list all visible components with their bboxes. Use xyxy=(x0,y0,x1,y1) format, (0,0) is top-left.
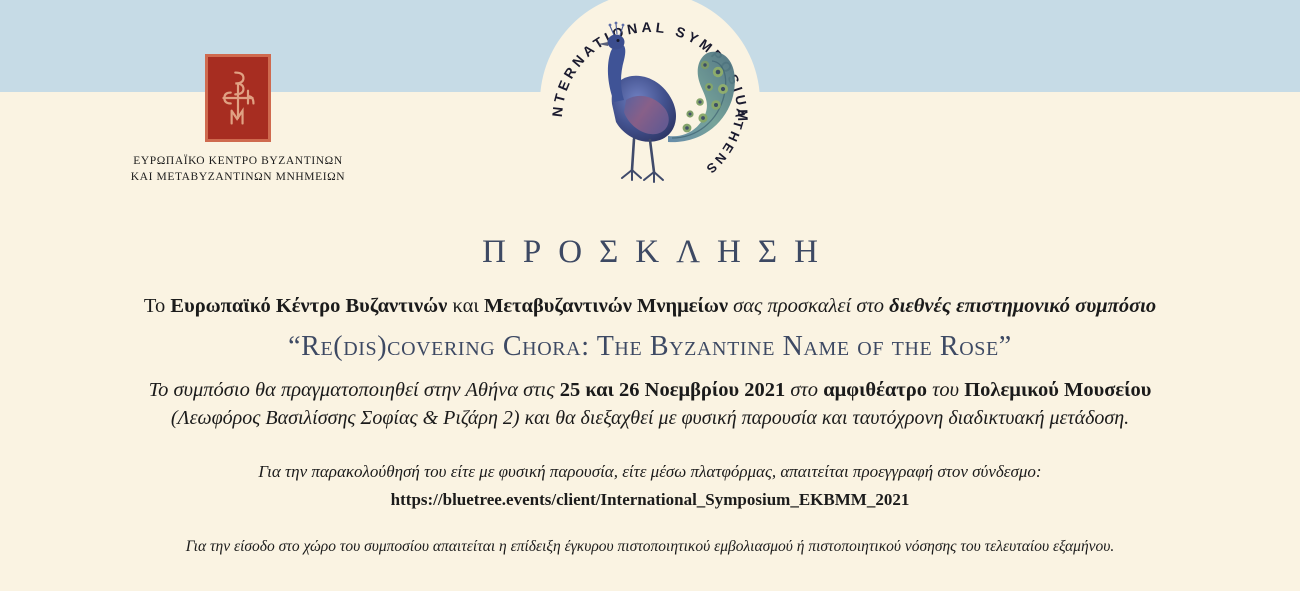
page-title: ΠΡΟΣΚΛΗΣΗ xyxy=(0,234,1300,271)
invitation-connector-2: σας προσκαλεί στο xyxy=(728,295,889,317)
symposium-dates: 25 και 26 Νοεμβρίου 2021 xyxy=(560,379,786,401)
institution-name-line-2: ΚΑΙ ΜΕΤΑΒΥΖΑΝΤΙΝΩΝ ΜΝΗΜΕΙΩΝ xyxy=(88,170,388,186)
event-type-label: διεθνές επιστημονικό συμπόσιο xyxy=(889,295,1156,317)
venue-connector-2: του xyxy=(927,379,964,401)
registration-url[interactable]: https://bluetree.events/client/Internati… xyxy=(0,487,1300,513)
invitation-card: ΕΥΡΩΠΑΪΚΟ ΚΕΝΤΡΟ ΒΥΖΑΝΤΙΝΩΝ ΚΑΙ ΜΕΤΑΒΥΖΑ… xyxy=(0,0,1300,591)
venue-museum: Πολεμικού Μουσείου xyxy=(964,379,1151,401)
institution-logo-block: ΕΥΡΩΠΑΪΚΟ ΚΕΝΤΡΟ ΒΥΖΑΝΤΙΝΩΝ ΚΑΙ ΜΕΤΑΒΥΖΑ… xyxy=(88,54,388,185)
invitation-body: Το Ευρωπαϊκό Κέντρο Βυζαντινών και Μεταβ… xyxy=(0,292,1300,559)
date-venue-sentence: Το συμπόσιο θα πραγματοποιηθεί στην Αθήν… xyxy=(0,376,1300,404)
organisation-name-part-2: Μεταβυζαντινών Μνημείων xyxy=(484,295,728,317)
date-prefix: Το συμπόσιο θα πραγματοποιηθεί στην Αθήν… xyxy=(149,379,560,401)
institution-name-line-1: ΕΥΡΩΠΑΪΚΟ ΚΕΝΤΡΟ ΒΥΖΑΝΤΙΝΩΝ xyxy=(88,154,388,170)
certificate-requirement-note: Για την είσοδο στο χώρο του συμποσίου απ… xyxy=(0,535,1300,559)
institution-name: ΕΥΡΩΠΑΪΚΟ ΚΕΝΤΡΟ ΒΥΖΑΝΤΙΝΩΝ ΚΑΙ ΜΕΤΑΒΥΖΑ… xyxy=(88,154,388,185)
invitation-prefix: Το xyxy=(144,295,171,317)
venue-address-line: (Λεωφόρος Βασιλίσσης Σοφίας & Ριζάρη 2) … xyxy=(0,404,1300,432)
venue-amphitheatre: αμφιθέατρο xyxy=(823,379,927,401)
byzantine-monogram-seal-icon xyxy=(205,54,271,142)
symposium-emblem: INTERNATIONAL SYMPOSIUM ATHENS xyxy=(540,0,760,220)
invitation-sentence: Το Ευρωπαϊκό Κέντρο Βυζαντινών και Μεταβ… xyxy=(0,292,1300,320)
invitation-connector-1: και xyxy=(447,295,484,317)
organisation-name-part-1: Ευρωπαϊκό Κέντρο Βυζαντινών xyxy=(170,295,447,317)
venue-connector-1: στο xyxy=(785,379,823,401)
symposium-title: “Re(dis)covering Chora: The Byzantine Na… xyxy=(0,328,1300,366)
registration-note: Για την παρακολούθησή του είτε με φυσική… xyxy=(0,459,1300,485)
